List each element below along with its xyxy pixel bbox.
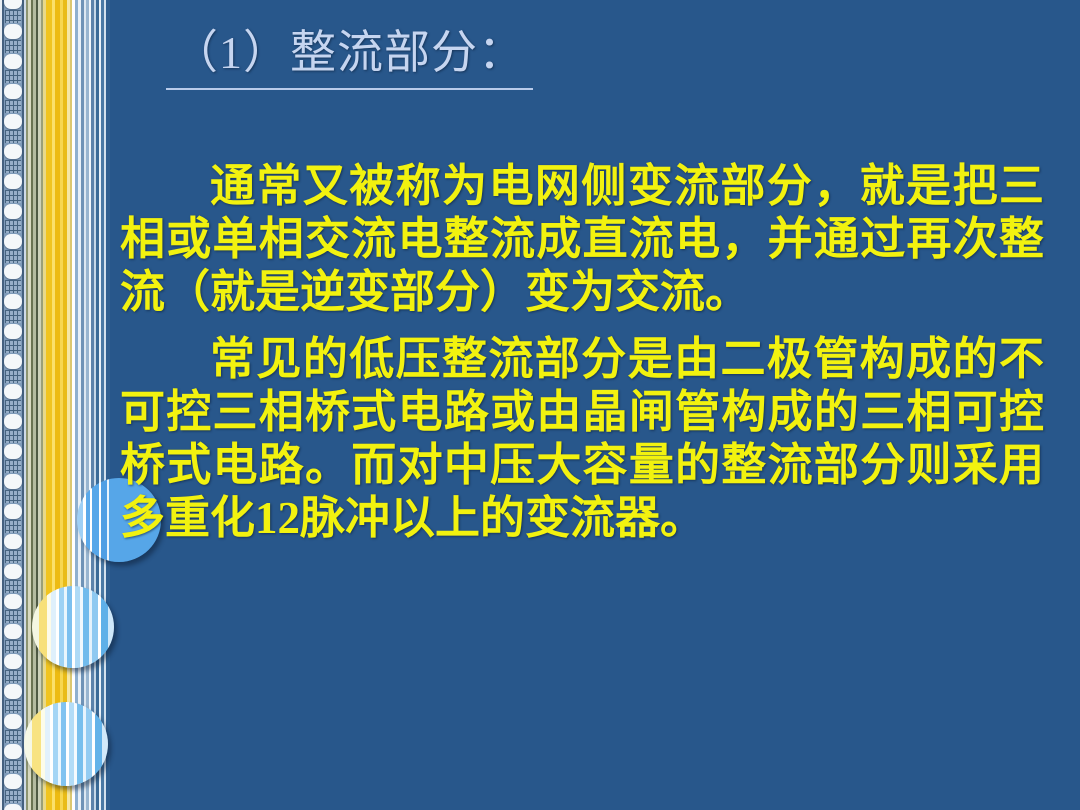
film-strip-beads (4, 0, 22, 810)
film-strip-bead (4, 114, 22, 129)
film-strip-grid-block (5, 730, 21, 743)
film-strip-bead (4, 624, 22, 639)
film-strip-bead (4, 654, 22, 669)
film-strip-bead (4, 684, 22, 699)
film-strip-grid-block (5, 430, 21, 443)
film-strip-bead (4, 714, 22, 729)
film-strip-grid-block (5, 640, 21, 653)
film-strip-grid-block (5, 790, 21, 803)
beaded-film-strip (0, 0, 26, 810)
film-strip-bead (4, 0, 22, 9)
film-strip-bead (4, 504, 22, 519)
film-strip-grid-block (5, 160, 21, 173)
film-strip-bead (4, 204, 22, 219)
film-strip-grid-block (5, 340, 21, 353)
body-paragraph-2: 常见的低压整流部分是由二极管构成的不可控三相桥式电路或由晶闸管构成的三相可控桥式… (120, 333, 1044, 545)
film-strip-bead (4, 594, 22, 609)
film-strip-bead (4, 174, 22, 189)
film-strip-grid-block (5, 130, 21, 143)
presentation-slide: （1）整流部分： 通常又被称为电网侧变流部分，就是把三相或单相交流电整流成直流电… (0, 0, 1080, 810)
film-strip-grid-block (5, 370, 21, 383)
slide-title: （1）整流部分： (166, 24, 533, 90)
film-strip-grid-block (5, 40, 21, 53)
film-strip-bead (4, 234, 22, 249)
film-strip-grid-block (5, 550, 21, 563)
film-strip-grid-block (5, 70, 21, 83)
slide-body: 通常又被称为电网侧变流部分，就是把三相或单相交流电整流成直流电，并通过再次整流（… (120, 160, 1044, 545)
film-strip-grid-block (5, 760, 21, 773)
film-strip-grid-block (5, 310, 21, 323)
film-strip-grid-block (5, 520, 21, 533)
film-strip-grid-block (5, 580, 21, 593)
film-strip-bead (4, 144, 22, 159)
film-strip-grid-block (5, 190, 21, 203)
left-decorative-border (0, 0, 110, 810)
film-strip-grid-block (5, 670, 21, 683)
film-strip-grid-block (5, 280, 21, 293)
film-strip-grid-block (5, 400, 21, 413)
film-strip-bead (4, 804, 22, 810)
film-strip-grid-block (5, 100, 21, 113)
body-paragraph-1: 通常又被称为电网侧变流部分，就是把三相或单相交流电整流成直流电，并通过再次整流（… (120, 160, 1044, 319)
film-strip-bead (4, 294, 22, 309)
film-strip-bead (4, 414, 22, 429)
film-strip-bead (4, 84, 22, 99)
film-strip-bead (4, 54, 22, 69)
deco-circle-bottom (24, 702, 108, 786)
film-strip-bead (4, 264, 22, 279)
film-strip-bead (4, 564, 22, 579)
film-strip-grid-block (5, 490, 21, 503)
deco-circle-middle (32, 586, 114, 668)
film-strip-bead (4, 774, 22, 789)
film-strip-bead (4, 534, 22, 549)
film-strip-grid-block (5, 10, 21, 23)
film-strip-bead (4, 324, 22, 339)
film-strip-bead (4, 744, 22, 759)
film-strip-grid-block (5, 250, 21, 263)
film-strip-bead (4, 354, 22, 369)
film-strip-grid-block (5, 700, 21, 713)
film-strip-bead (4, 24, 22, 39)
slide-content: （1）整流部分： 通常又被称为电网侧变流部分，就是把三相或单相交流电整流成直流电… (110, 0, 1080, 810)
film-strip-bead (4, 444, 22, 459)
film-strip-grid-block (5, 220, 21, 233)
film-strip-grid-block (5, 460, 21, 473)
film-strip-bead (4, 474, 22, 489)
film-strip-bead (4, 384, 22, 399)
film-strip-grid-block (5, 610, 21, 623)
